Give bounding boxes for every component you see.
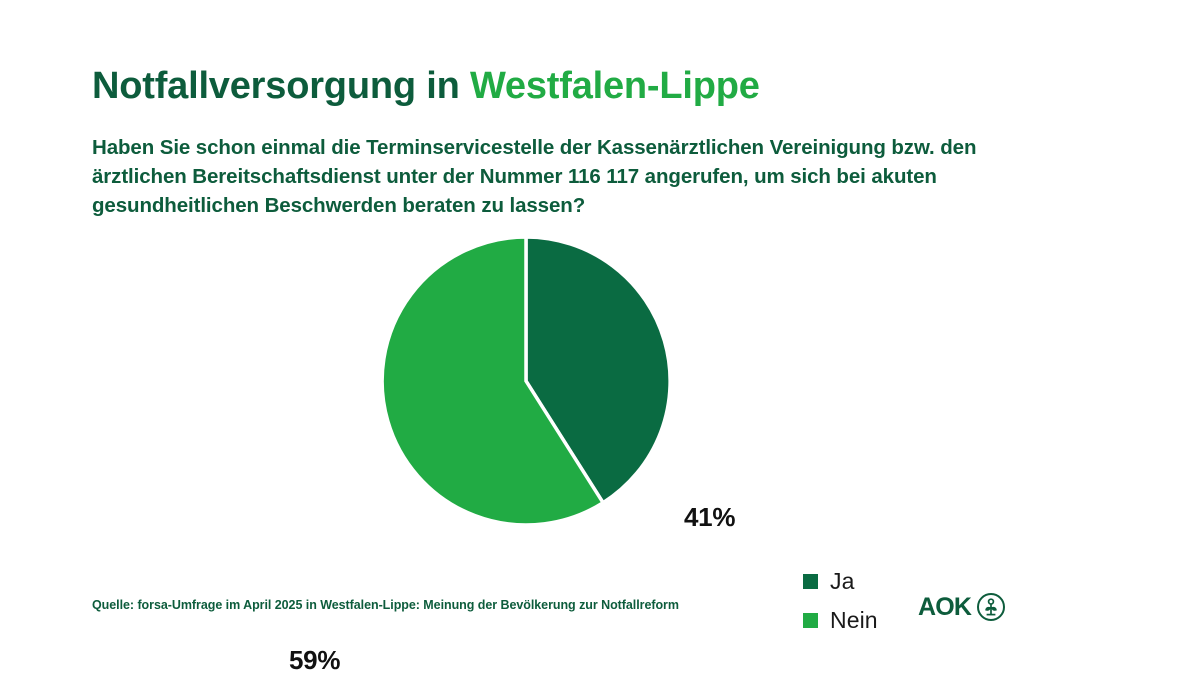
page-title: Notfallversorgung in Westfalen-Lippe <box>92 65 760 109</box>
aok-logo-text: AOK <box>918 595 971 620</box>
aok-logo: AOK <box>918 592 1006 622</box>
legend-item-ja[interactable]: Ja <box>803 570 878 593</box>
pie-value-label-ja: 41% <box>684 502 735 533</box>
legend-swatch-nein <box>803 613 818 628</box>
legend-label-ja: Ja <box>830 570 855 593</box>
legend-swatch-ja <box>803 574 818 589</box>
page-title-accent: Westfalen-Lippe <box>470 65 760 107</box>
page-title-primary: Notfallversorgung in <box>92 65 470 107</box>
aok-plant-emblem-icon <box>976 592 1006 622</box>
legend-item-nein[interactable]: Nein <box>803 609 878 632</box>
pie-chart: 41% 59% Ja Nein <box>0 215 1200 560</box>
source-note: Quelle: forsa-Umfrage im April 2025 in W… <box>92 598 679 612</box>
survey-question: Haben Sie schon einmal die Terminservice… <box>92 133 1012 220</box>
chart-legend: Ja Nein <box>803 570 878 632</box>
pie-graphic <box>380 235 672 527</box>
pie-svg <box>380 235 672 527</box>
infographic-canvas: Notfallversorgung in Westfalen-Lippe Hab… <box>0 0 1200 675</box>
legend-label-nein: Nein <box>830 609 878 632</box>
pie-value-label-nein: 59% <box>289 645 340 676</box>
